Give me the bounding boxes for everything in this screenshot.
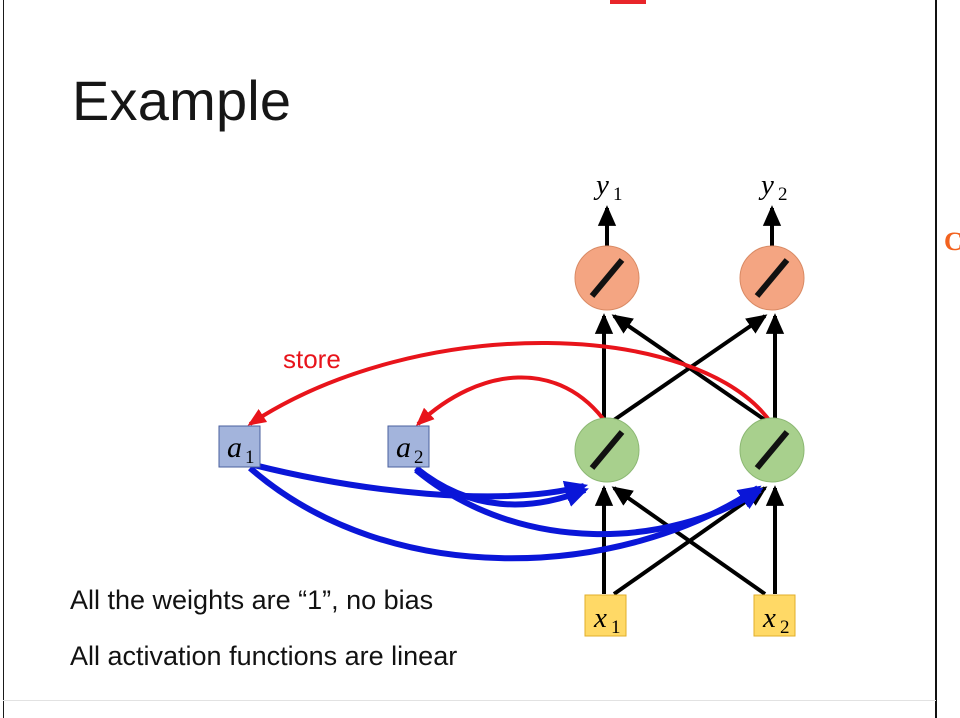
- hidden-layer: [575, 418, 804, 482]
- hidden-node-h1[interactable]: [575, 418, 639, 482]
- output-node-y2[interactable]: [740, 246, 804, 310]
- memory-cell-a2-label: a: [396, 431, 411, 464]
- output-label-y1-subscript: 1: [613, 184, 623, 205]
- input-cell-x2-subscript: 2: [780, 617, 790, 638]
- edges-output-emit: [607, 208, 772, 246]
- memory-cell-a2-subscript: 2: [414, 447, 424, 468]
- input-cell-x2-label: x: [762, 602, 776, 634]
- hidden-node-h2[interactable]: [740, 418, 804, 482]
- memory-cell-a2[interactable]: a 2: [388, 426, 429, 468]
- output-layer: [575, 246, 804, 310]
- output-label-y2: y: [758, 169, 774, 201]
- network-diagram: a 1 a 2 x 1 x 2 y 1: [0, 0, 960, 718]
- memory-cell-a1-label: a: [227, 431, 242, 464]
- input-cell-x1-subscript: 1: [611, 617, 621, 638]
- output-label-y2-subscript: 2: [778, 184, 788, 205]
- edge-a2-to-h2: [416, 470, 760, 534]
- input-cells: x 1 x 2: [585, 595, 795, 638]
- output-label-y1: y: [593, 169, 609, 201]
- memory-cell-a1-subscript: 1: [245, 447, 255, 468]
- store-label: store: [283, 344, 341, 374]
- output-node-y1[interactable]: [575, 246, 639, 310]
- output-labels: y 1 y 2: [593, 169, 788, 205]
- edge-h1-to-a2: [418, 377, 607, 424]
- input-cell-x1[interactable]: x 1: [585, 595, 626, 638]
- input-cell-x2[interactable]: x 2: [754, 595, 795, 638]
- memory-cells: a 1 a 2: [219, 426, 429, 468]
- slide-canvas: C Example All the weights are “1”, no bi…: [0, 0, 960, 718]
- memory-cell-a1[interactable]: a 1: [219, 426, 260, 468]
- input-cell-x1-label: x: [593, 602, 607, 634]
